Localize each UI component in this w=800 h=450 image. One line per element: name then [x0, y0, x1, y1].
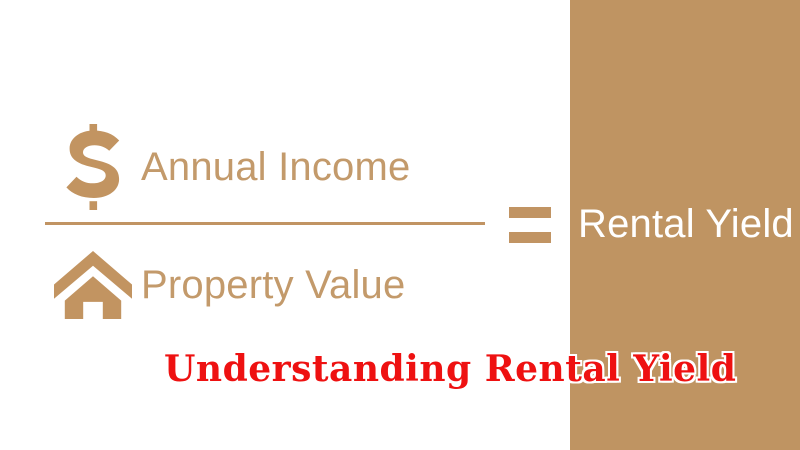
dollar-sign-icon — [45, 124, 141, 210]
equals-bar-top — [509, 207, 551, 218]
numerator-label: Annual Income — [141, 147, 410, 187]
denominator-label: Property Value — [141, 265, 405, 305]
page-title: Understanding Rental Yield — [164, 350, 736, 390]
formula-denominator-row: Property Value — [45, 240, 485, 330]
equals-bar-bottom — [509, 232, 551, 243]
equals-sign-icon — [509, 207, 551, 243]
infographic-canvas: Annual Income Property Value Rental Yiel… — [0, 0, 800, 450]
house-icon — [45, 251, 141, 319]
result-label: Rental Yield — [578, 200, 794, 248]
formula-numerator-row: Annual Income — [45, 122, 485, 212]
fraction-bar — [45, 222, 485, 225]
